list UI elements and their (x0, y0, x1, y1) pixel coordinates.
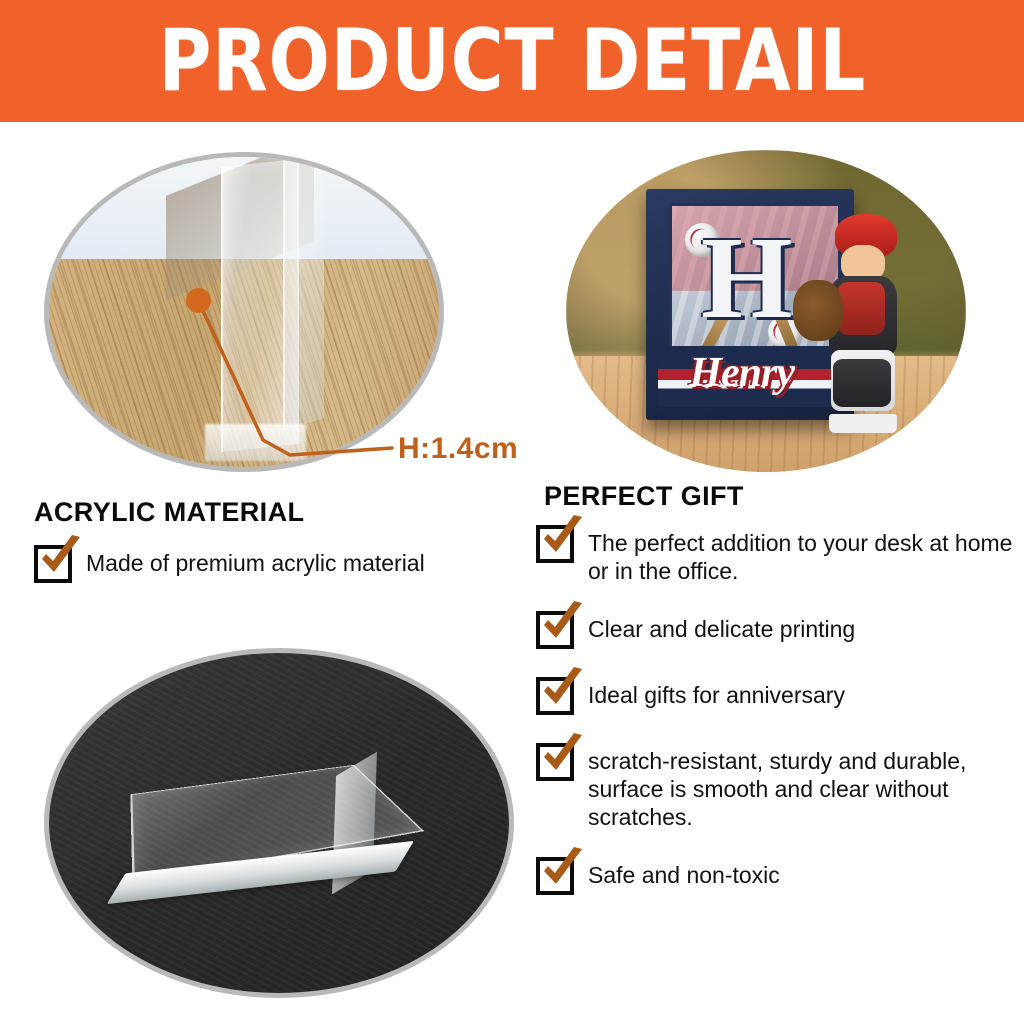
list-item: scratch-resistant, sturdy and durable, s… (536, 743, 1016, 831)
checkmark-icon (538, 601, 586, 649)
list-item: Safe and non-toxic (536, 857, 1016, 895)
checkbox-checked[interactable] (536, 611, 574, 649)
checkbox-checked[interactable] (536, 677, 574, 715)
baseball-player-figurine (814, 214, 910, 433)
checkbox-checked[interactable] (536, 525, 574, 563)
checkmark-icon (538, 733, 586, 781)
dimension-label: H:1.4cm (398, 432, 518, 466)
checkmark-icon (36, 535, 84, 583)
checkbox-checked[interactable] (536, 743, 574, 781)
list-item: Clear and delicate printing (536, 611, 1016, 649)
photo-gift-box: H Henry (566, 150, 966, 472)
checkmark-icon (538, 515, 586, 563)
checkbox-checked[interactable] (34, 545, 72, 583)
monogram-letter: H (695, 227, 798, 340)
header-banner: PRODUCT DETAIL (0, 0, 1024, 122)
list-item-label: scratch-resistant, sturdy and durable, s… (588, 743, 1016, 831)
list-item-label: Safe and non-toxic (588, 857, 780, 889)
personalized-name: Henry (679, 349, 804, 397)
page-title: PRODUCT DETAIL (158, 18, 865, 104)
acrylic-base-reflection (205, 424, 306, 461)
cleats (829, 414, 896, 434)
section-title-perfect-gift: PERFECT GIFT (544, 481, 744, 512)
feature-list-perfect-gift: The perfect addition to your desk at hom… (536, 525, 1016, 895)
checkbox-checked[interactable] (536, 857, 574, 895)
photo-acrylic-edge (44, 152, 444, 472)
photo-acrylic-block (44, 648, 514, 998)
baseball-glove-icon (793, 280, 843, 341)
list-item: Ideal gifts for anniversary (536, 677, 1016, 715)
list-item: The perfect addition to your desk at hom… (536, 525, 1016, 585)
checkmark-icon (538, 847, 586, 895)
feature-list-acrylic-material: Made of premium acrylic material (34, 545, 514, 583)
list-item-label: Made of premium acrylic material (86, 545, 425, 577)
list-item: Made of premium acrylic material (34, 545, 514, 583)
shin-guards (833, 359, 891, 407)
list-item-label: Clear and delicate printing (588, 611, 855, 643)
list-item-label: The perfect addition to your desk at hom… (588, 525, 1016, 585)
section-title-acrylic-material: ACRYLIC MATERIAL (34, 497, 304, 528)
acrylic-slab-secondary (283, 152, 324, 429)
product-detail-infographic: PRODUCT DETAIL H:1.4cm H Henry (0, 0, 1024, 1024)
checkmark-icon (538, 667, 586, 715)
chest-protector (837, 282, 885, 335)
list-item-label: Ideal gifts for anniversary (588, 677, 845, 709)
measurement-dot-icon (186, 288, 211, 313)
